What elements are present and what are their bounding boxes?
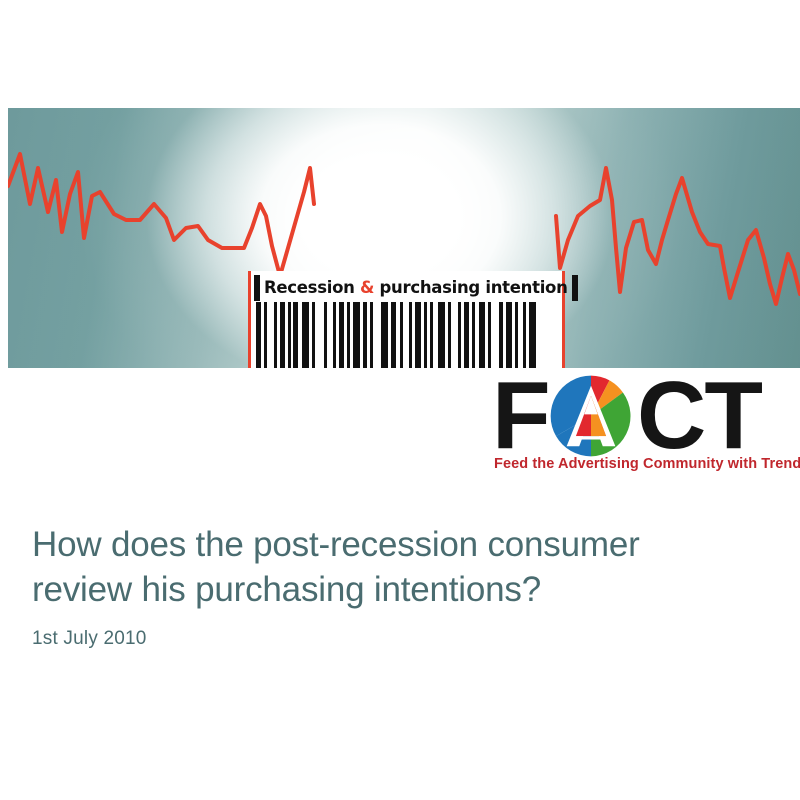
barcode-caption-ampersand: & xyxy=(360,278,374,297)
title-slide: Recession & purchasing intention xyxy=(0,0,800,800)
slide-date: 1st July 2010 xyxy=(32,628,147,650)
logo-tagline: Feed the Advertising Community with Tren… xyxy=(494,456,800,472)
fact-wordmark: F CT xyxy=(492,368,792,456)
slide-title-line-1: How does the post-recession consumer xyxy=(32,523,762,568)
slide-title: How does the post-recession consumer rev… xyxy=(32,523,762,613)
fact-logo: F CT Feed the Advertisin xyxy=(492,368,792,480)
trend-line-right xyxy=(556,168,800,304)
banner-gradient-background: Recession & purchasing intention xyxy=(8,108,800,368)
barcode-graphic: Recession & purchasing intention xyxy=(248,271,565,368)
barcode-caption-suffix: purchasing intention xyxy=(374,278,567,297)
banner-image: Recession & purchasing intention xyxy=(8,108,800,368)
barcode-bar-stack xyxy=(256,302,557,368)
slide-title-line-2: review his purchasing intentions? xyxy=(32,568,762,613)
trend-line-left xyxy=(8,154,314,276)
barcode-label-row: Recession & purchasing intention xyxy=(254,274,559,302)
barcode-guard-left xyxy=(248,271,251,368)
logo-letters-ct: CT xyxy=(637,368,761,464)
logo-letter-f: F xyxy=(492,368,549,464)
barcode-caption-prefix: Recession xyxy=(264,278,360,297)
barcode-caption: Recession & purchasing intention xyxy=(260,280,572,297)
letter-a-base-gap xyxy=(574,436,608,439)
barcode-bar xyxy=(576,275,578,301)
logo-letter-a-pie-icon xyxy=(549,374,633,458)
